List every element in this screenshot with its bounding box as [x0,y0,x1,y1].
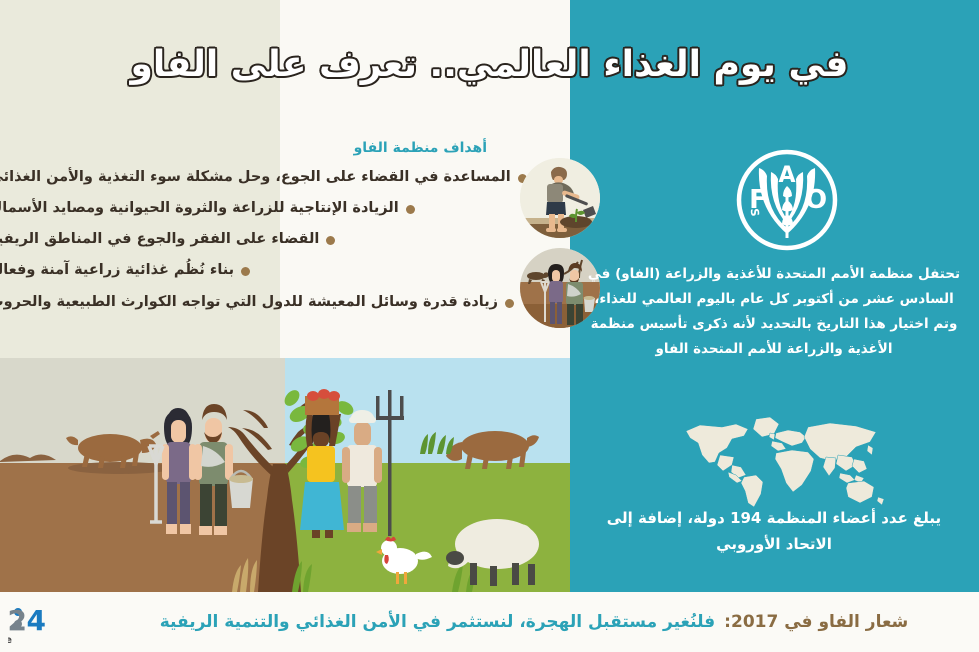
bullet-dot-icon [406,205,415,214]
members-count-text: يبلغ عدد أعضاء المنظمة 194 دولة، إضافة إ… [585,505,963,558]
footer-slogan-label: شعار الفاو في 2017: [724,612,908,632]
footer-slogan: شعار الفاو في 2017: فلنُغير مستقبل الهجر… [89,592,979,652]
goal-item: بناء نُظُم غذائية زراعية آمنة وفعالة [0,261,489,279]
page-title: في يوم الغذاء العالمي.. تعرف على الفاو [131,44,849,85]
goal-item: الزيادة الإنتاجية للزراعة والثروة الحيوا… [0,199,489,217]
landmasses [686,417,884,507]
logo-url: www.24.ae [8,635,12,646]
infographic-canvas: في يوم الغذاء العالمي.. تعرف على الفاو أ… [0,0,979,652]
scene-svg [0,358,570,592]
goals-heading: أهداف منظمة الفاو [0,140,489,156]
bullet-dot-icon [326,236,335,245]
fruit-basket [305,389,340,415]
site-logo-24ae[interactable]: 2 4 www.24.ae [8,600,94,646]
goal-text: الزيادة الإنتاجية للزراعة والثروة الحيوا… [0,199,399,217]
logo-24-svg: 2 4 www.24.ae [8,600,94,646]
fao-description-paragraph: تحتفل منظمة الأمم المتحدة للأغذية والزرا… [585,262,963,362]
logo-digit-2: 2 [8,604,27,637]
bucket [229,471,253,508]
goals-section: أهداف منظمة الفاو المساعدة في القضاء على… [0,140,489,324]
logo-letter-o: O [805,185,827,215]
boy-planting-svg [520,158,600,238]
goal-text: المساعدة في القضاء على الجوع، وحل مشكلة … [0,168,511,186]
goal-item: زيادة قدرة وسائل المعيشة للدول التي تواج… [0,293,489,311]
footer-bar: 2 4 www.24.ae شعار الفاو في 2017: فلنُغي… [0,592,979,652]
world-map-svg [680,415,888,507]
split-village-illustration [0,358,570,592]
goal-text: بناء نُظُم غذائية زراعية آمنة وفعالة [0,261,234,279]
logo-digit-4: 4 [27,604,46,637]
goal-item: المساعدة في القضاء على الجوع، وحل مشكلة … [0,168,489,186]
bullet-dot-icon [505,299,514,308]
skirt [300,482,344,530]
fao-logo-svg: F A O FIAT PANIS [735,148,839,252]
world-map [680,415,888,507]
fao-logo: F A O FIAT PANIS [735,148,839,252]
bullet-dot-icon [241,267,250,276]
page-title-container: في يوم الغذاء العالمي.. تعرف على الفاو [0,28,979,100]
logo-letter-a: A [778,163,795,188]
goal-item: القضاء على الفقر والجوع في المناطق الريف… [0,230,489,248]
goal-text: القضاء على الفقر والجوع في المناطق الريف… [0,230,319,248]
footer-slogan-value: فلنُغير مستقبل الهجرة، لنستثمر في الأمن … [160,612,715,632]
boy-planting-photo [520,158,600,238]
goal-text: زيادة قدرة وسائل المعيشة للدول التي تواج… [0,293,498,311]
